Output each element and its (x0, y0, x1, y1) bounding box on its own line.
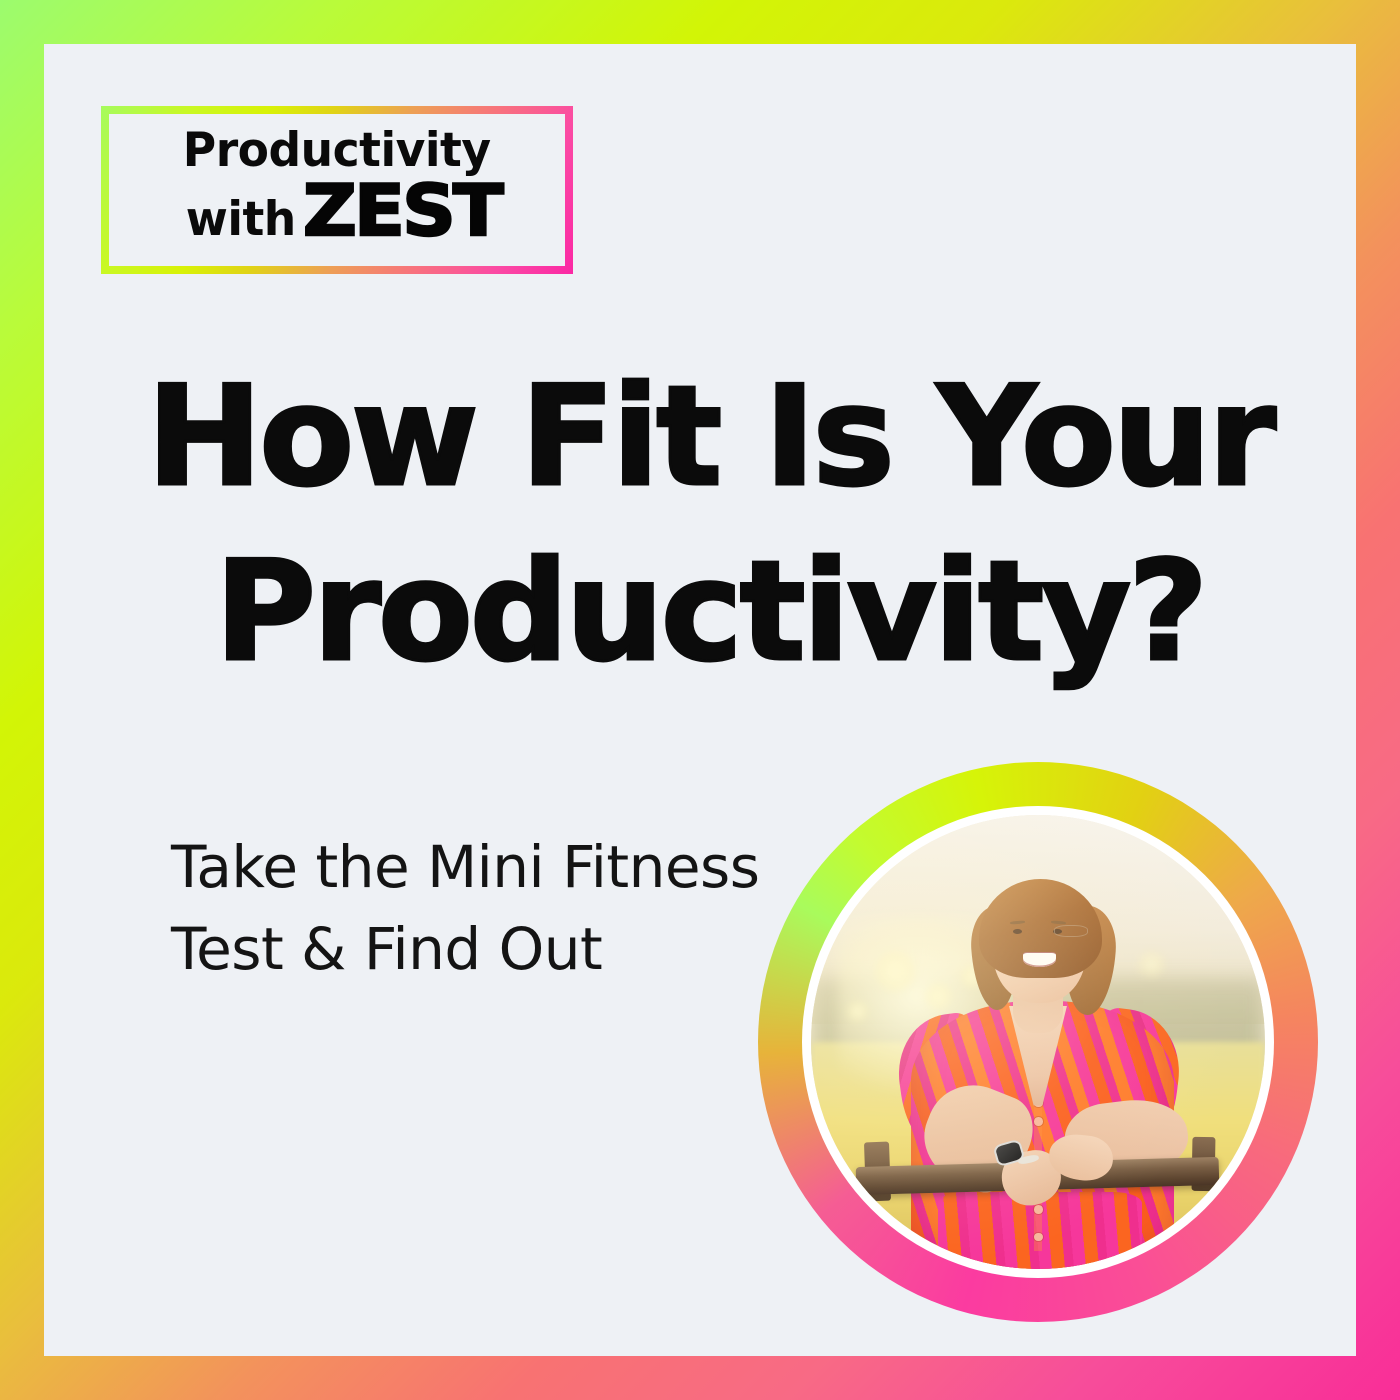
page-subtitle: Take the Mini Fitness Test & Find Out (171, 826, 851, 991)
poster-canvas: Productivity with ZEST How Fit Is Your P… (0, 0, 1400, 1400)
photo-dress-button (1034, 1205, 1043, 1214)
page-title: How Fit Is Your Productivity? (130, 349, 1290, 700)
page-subtitle-line2: Test & Find Out (171, 908, 851, 990)
photo-glasses (1054, 925, 1088, 937)
page-title-line2: Productivity? (130, 524, 1290, 699)
page-title-line1: How Fit Is Your (130, 349, 1290, 524)
page-subtitle-line1: Take the Mini Fitness (171, 826, 851, 908)
brand-logo-line1: Productivity (183, 128, 491, 175)
brand-logo-with: with (186, 196, 296, 243)
brand-logo-zest: ZEST (303, 176, 501, 246)
avatar (811, 815, 1265, 1269)
content-panel: Productivity with ZEST How Fit Is Your P… (44, 44, 1356, 1356)
brand-logo-line2: with ZEST (184, 176, 490, 246)
photo-dress-button (1034, 1117, 1043, 1126)
brand-logo-badge[interactable]: Productivity with ZEST (101, 106, 573, 274)
brand-logo-inner: Productivity with ZEST (109, 114, 565, 266)
photo-dress-button (1034, 1233, 1043, 1242)
portrait-gradient-ring (758, 762, 1318, 1322)
portrait-inner-gap (802, 806, 1274, 1278)
